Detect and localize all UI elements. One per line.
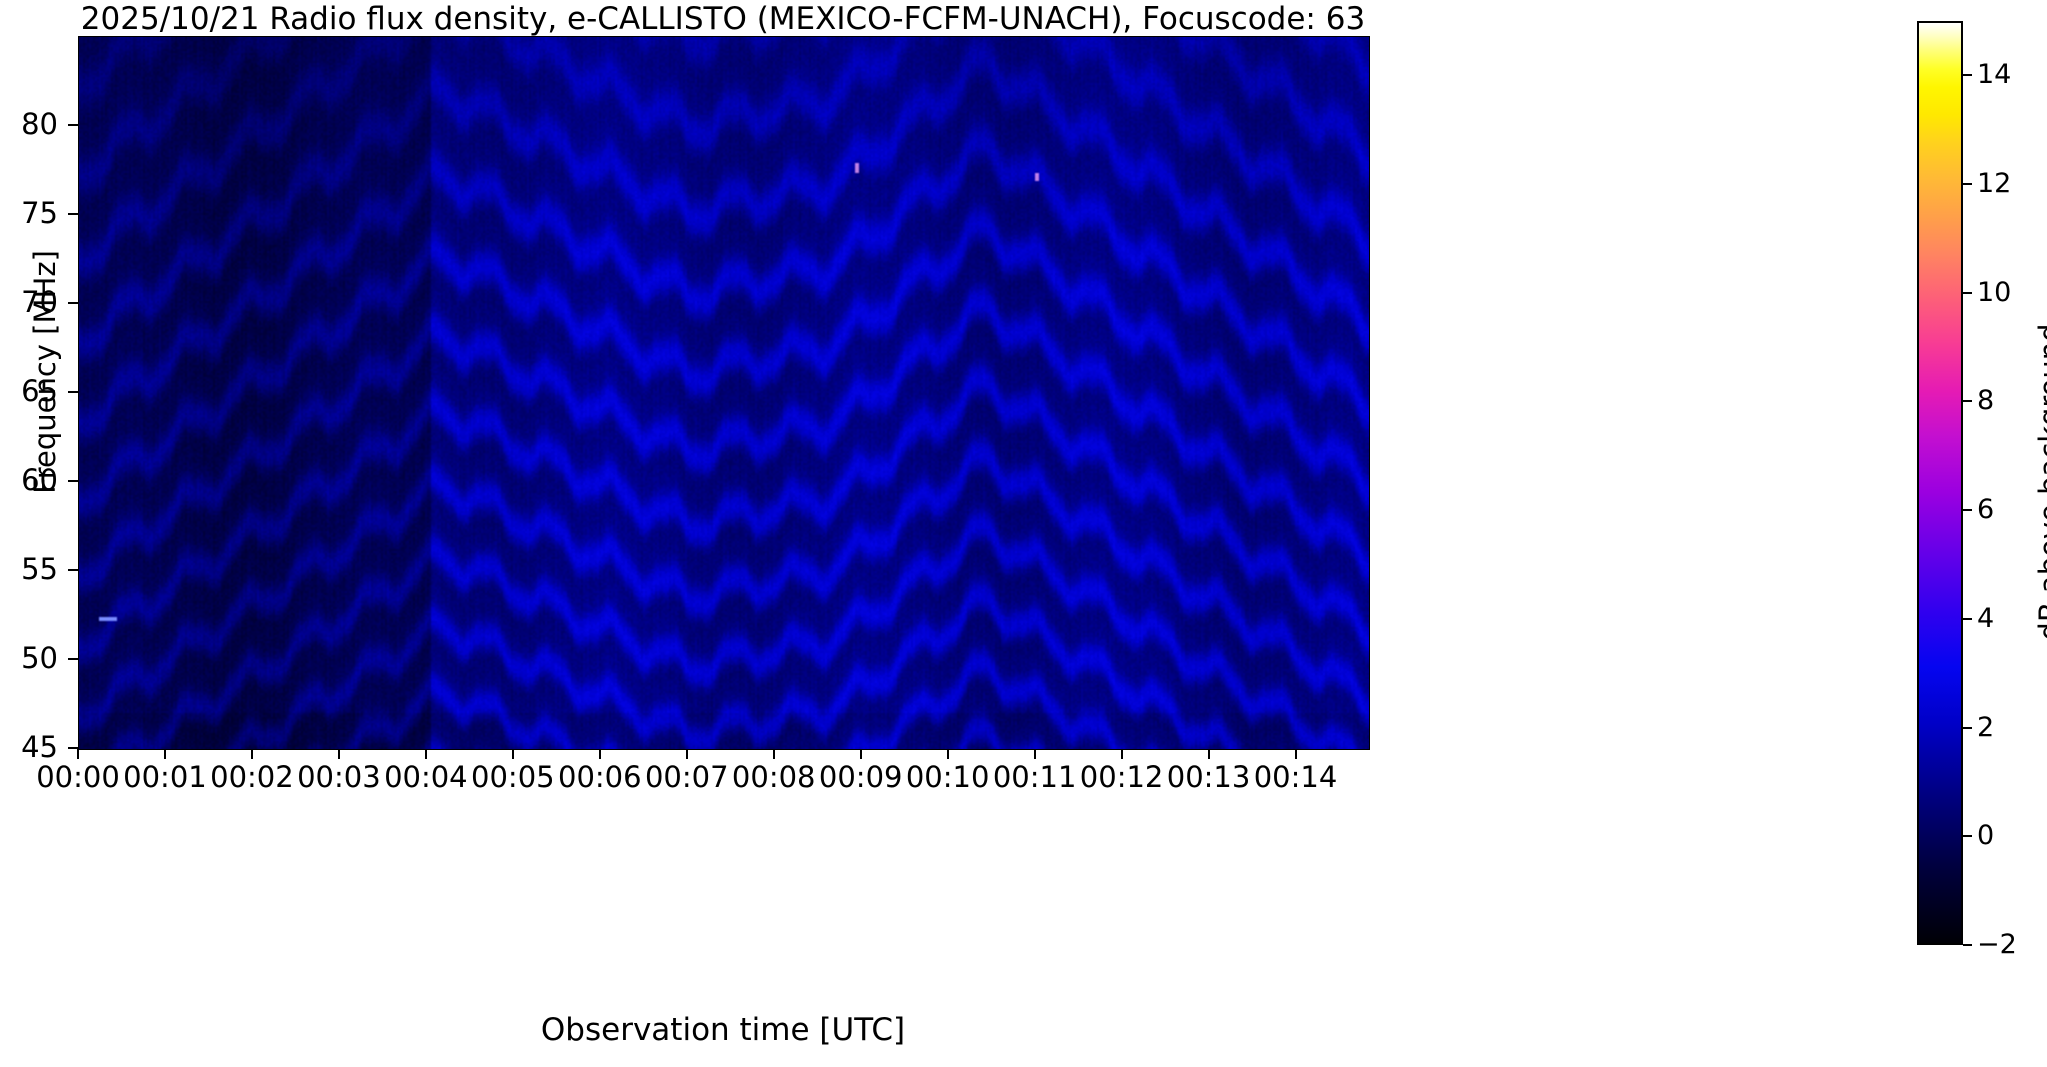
x-tick-mark (164, 749, 166, 759)
spectrogram-axes[interactable] (78, 36, 1370, 750)
x-tick-mark (425, 749, 427, 759)
colorbar-tick-mark (1963, 400, 1972, 402)
colorbar-tick-mark (1963, 944, 1972, 946)
page-title: 2025/10/21 Radio flux density, e-CALLIST… (78, 2, 1368, 36)
y-tick-mark (68, 658, 78, 660)
colorbar-tick-label: 12 (1977, 170, 2011, 197)
y-tick-label: 55 (0, 555, 58, 584)
colorbar-tick-label: 10 (1977, 279, 2011, 306)
colorbar-tick-label: 0 (1977, 822, 1994, 849)
colorbar-tick-mark (1963, 618, 1972, 620)
colorbar[interactable] (1917, 21, 1963, 945)
y-tick-mark (68, 480, 78, 482)
x-tick-mark (77, 749, 79, 759)
colorbar-tick-label: −2 (1977, 931, 2017, 958)
x-axis-label: Observation time [UTC] (78, 1012, 1368, 1048)
y-tick-mark (68, 569, 78, 571)
colorbar-tick-mark (1963, 183, 1972, 185)
x-tick-mark (1121, 749, 1123, 759)
x-tick-mark (1034, 749, 1036, 759)
y-tick-mark (68, 302, 78, 304)
colorbar-tick-mark (1963, 509, 1972, 511)
x-tick-mark (338, 749, 340, 759)
colorbar-tick-label: 6 (1977, 496, 1994, 523)
colorbar-tick-label: 14 (1977, 61, 2011, 88)
y-tick-label: 75 (0, 199, 58, 228)
y-tick-label: 45 (0, 733, 58, 762)
y-tick-mark (68, 124, 78, 126)
y-tick-label: 65 (0, 377, 58, 406)
colorbar-tick-label: 2 (1977, 714, 1994, 741)
spectrogram-heatmap (79, 37, 1369, 749)
y-tick-label: 80 (0, 110, 58, 139)
x-tick-mark (512, 749, 514, 759)
x-tick-mark (773, 749, 775, 759)
x-tick-mark (686, 749, 688, 759)
x-tick-mark (947, 749, 949, 759)
x-tick-label: 00:14 (1226, 763, 1366, 792)
x-tick-mark (599, 749, 601, 759)
x-tick-mark (1295, 749, 1297, 759)
y-tick-mark (68, 213, 78, 215)
colorbar-tick-mark (1963, 835, 1972, 837)
y-tick-label: 60 (0, 466, 58, 495)
x-tick-mark (860, 749, 862, 759)
colorbar-tick-mark (1963, 292, 1972, 294)
y-tick-label: 70 (0, 288, 58, 317)
colorbar-tick-mark (1963, 727, 1972, 729)
colorbar-tick-label: 4 (1977, 605, 1994, 632)
colorbar-tick-label: 8 (1977, 387, 1994, 414)
colorbar-tick-mark (1963, 74, 1972, 76)
x-tick-mark (1208, 749, 1210, 759)
spectrogram-figure: 2025/10/21 Radio flux density, e-CALLIST… (0, 0, 2047, 1067)
x-tick-mark (251, 749, 253, 759)
colorbar-label: dB above background (2033, 172, 2047, 792)
y-tick-label: 50 (0, 644, 58, 673)
y-tick-mark (68, 391, 78, 393)
